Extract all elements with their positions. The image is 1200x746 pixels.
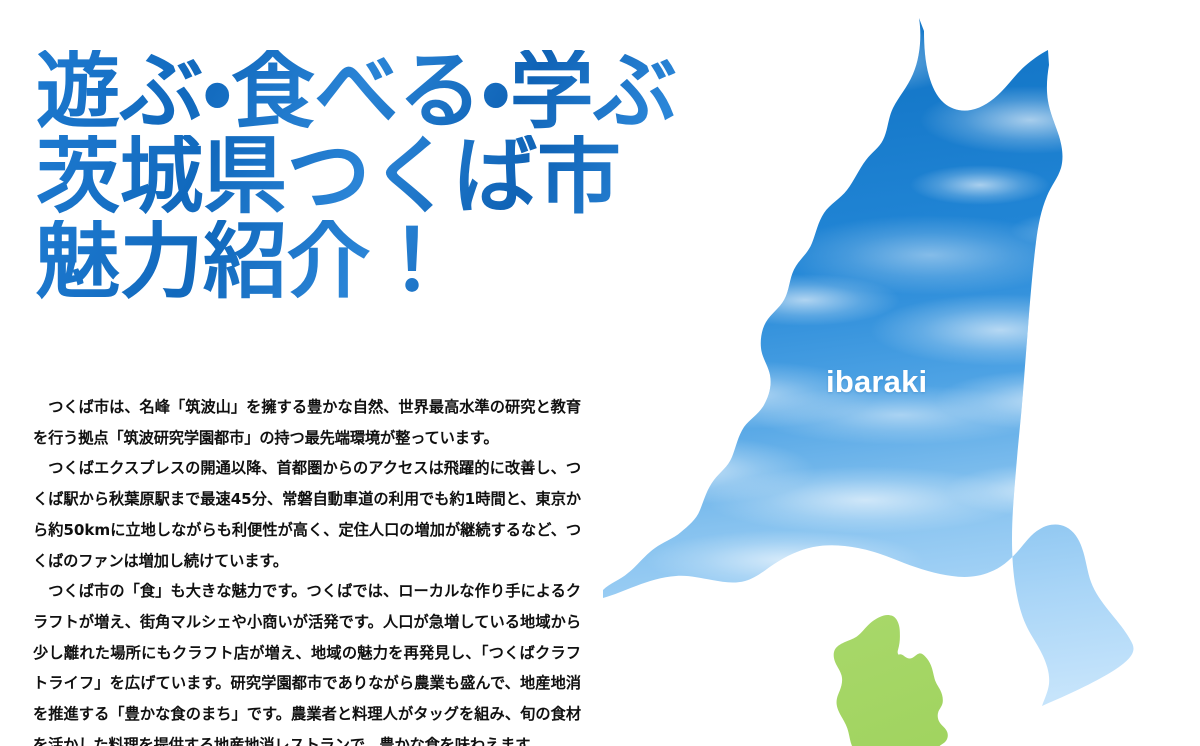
poster-canvas: ibaraki 遊ぶ・食べる・学ぶ 茨城県つくば市 魅力紹介！ つくば市は、名峰…: [0, 0, 1200, 746]
tsukuba-city-region: [834, 615, 948, 746]
headline-block: 遊ぶ・食べる・学ぶ 茨城県つくば市 魅力紹介！: [36, 50, 816, 303]
body-copy-block: つくば市は、名峰「筑波山」を擁する豊かな自然、世界最高水準の研究と教育を行う拠点…: [33, 392, 581, 746]
headline-line-3: 魅力紹介！: [36, 220, 816, 303]
body-paragraph-3: つくば市の「食」も大きな魅力です。つくばでは、ローカルな作り手によるクラフトが増…: [33, 576, 581, 746]
headline-line-2: 茨城県つくば市: [36, 135, 816, 218]
body-paragraph-2: つくばエクスプレスの開通以降、首都圏からのアクセスは飛躍的に改善し、つくば駅から…: [33, 453, 581, 576]
headline-line-1: 遊ぶ・食べる・学ぶ: [36, 50, 816, 133]
body-paragraph-1: つくば市は、名峰「筑波山」を擁する豊かな自然、世界最高水準の研究と教育を行う拠点…: [33, 392, 581, 453]
map-prefecture-label: ibaraki: [826, 366, 927, 397]
